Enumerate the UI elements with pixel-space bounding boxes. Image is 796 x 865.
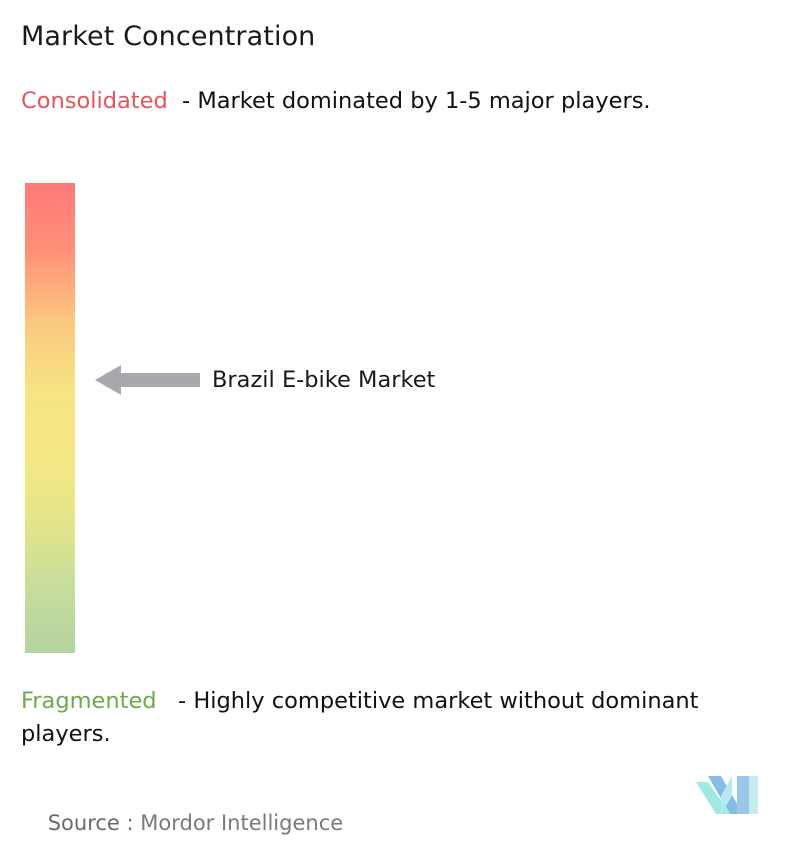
legend-key-fragmented: Fragmented [21, 688, 157, 714]
market-concentration-chart: Market Concentration Consolidated - Mark… [0, 0, 796, 834]
source-label: Source : [48, 811, 141, 835]
legend-consolidated: Consolidated - Market dominated by 1-5 m… [21, 85, 783, 118]
legend-separator-bottom: - [157, 688, 194, 714]
left-arrow-icon [95, 362, 200, 398]
concentration-gradient-bar [25, 183, 75, 653]
market-pointer-label: Brazil E-bike Market [212, 364, 435, 396]
page-title: Market Concentration [21, 20, 315, 54]
legend-fragmented: Fragmented - Highly competitive market w… [21, 685, 783, 751]
legend-key-consolidated: Consolidated [21, 88, 168, 114]
source-value: Mordor Intelligence [140, 811, 343, 835]
source-attribution: Source : Mordor Intelligence [21, 781, 343, 865]
legend-separator-top: - [168, 88, 198, 114]
mordor-intelligence-logo [694, 770, 760, 814]
legend-description-consolidated: Market dominated by 1-5 major players. [197, 88, 650, 114]
